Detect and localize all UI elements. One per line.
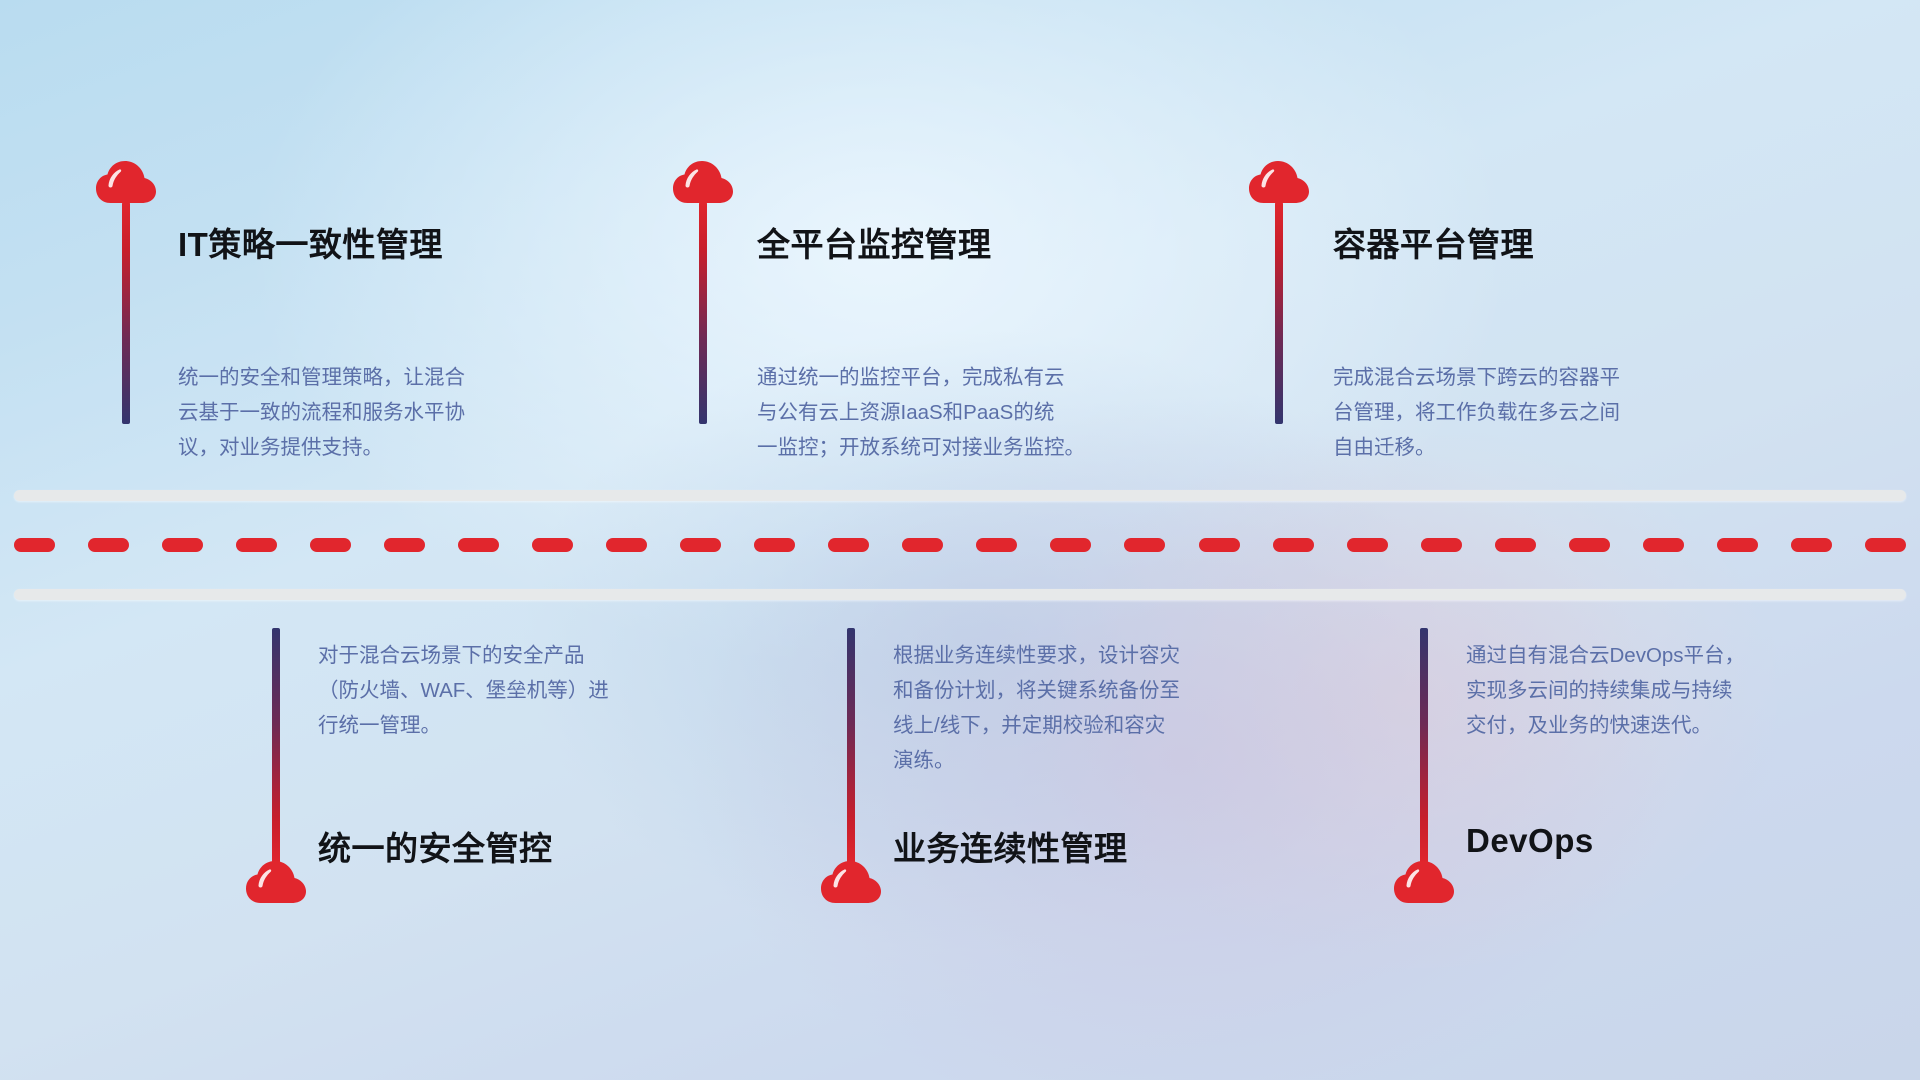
cloud-icon: [245, 860, 307, 904]
road-dash: [1791, 538, 1832, 552]
cloud-icon: [1393, 860, 1455, 904]
road-dash: [976, 538, 1017, 552]
cloud-pin-icon: [95, 160, 167, 204]
road-dashed-centerline: [14, 538, 1906, 552]
cloud-icon: [95, 160, 157, 204]
road-divider: [0, 490, 1920, 600]
cloud-pin-icon: [672, 160, 744, 204]
card-body: 通过自有混合云DevOps平台， 实现多云间的持续集成与持续 交付，及业务的快速…: [1466, 638, 1896, 743]
road-dash: [1495, 538, 1536, 552]
road-dash: [1050, 538, 1091, 552]
cloud-pin-icon: [1248, 160, 1320, 204]
road-dash: [1199, 538, 1240, 552]
road-dash: [1124, 538, 1165, 552]
pin-stem: [122, 202, 130, 424]
road-line-top: [14, 490, 1906, 501]
card-heading: 全平台监控管理: [757, 218, 992, 266]
cloud-icon: [672, 160, 734, 204]
road-dash: [902, 538, 943, 552]
road-dash: [606, 538, 647, 552]
pin-stem: [847, 628, 855, 866]
road-dash: [384, 538, 425, 552]
card-heading: 业务连续性管理: [893, 822, 1128, 870]
road-dash: [310, 538, 351, 552]
road-dash: [14, 538, 55, 552]
road-dash: [532, 538, 573, 552]
card-heading: 统一的安全管控: [318, 822, 553, 870]
card-heading: DevOps: [1466, 822, 1594, 860]
card-heading: 容器平台管理: [1333, 218, 1534, 266]
road-dash: [1717, 538, 1758, 552]
road-dash: [1643, 538, 1684, 552]
card-body: 根据业务连续性要求，设计容灾 和备份计划，将关键系统备份至 线上/线下，并定期校…: [893, 638, 1333, 778]
pin-stem: [1275, 202, 1283, 424]
road-dash: [754, 538, 795, 552]
infographic-canvas: IT策略一致性管理 统一的安全和管理策略，让混合 云基于一致的流程和服务水平协 …: [0, 0, 1920, 1080]
road-dash: [1421, 538, 1462, 552]
road-dash: [458, 538, 499, 552]
pin-stem: [272, 628, 280, 866]
road-dash: [680, 538, 721, 552]
road-dash: [162, 538, 203, 552]
road-line-bottom: [14, 589, 1906, 600]
cloud-icon: [820, 860, 882, 904]
card-body: 通过统一的监控平台，完成私有云 与公有云上资源IaaS和PaaS的统 一监控；开…: [757, 360, 1227, 465]
card-body: 统一的安全和管理策略，让混合 云基于一致的流程和服务水平协 议，对业务提供支持。: [178, 360, 608, 465]
cloud-icon: [1248, 160, 1310, 204]
road-dash: [828, 538, 869, 552]
card-heading: IT策略一致性管理: [178, 218, 443, 266]
road-dash: [88, 538, 129, 552]
pin-stem: [1420, 628, 1428, 866]
road-dash: [1865, 538, 1906, 552]
road-dash: [1347, 538, 1388, 552]
pin-stem: [699, 202, 707, 424]
road-dash: [1273, 538, 1314, 552]
road-dash: [1569, 538, 1610, 552]
road-dash: [236, 538, 277, 552]
card-body: 完成混合云场景下跨云的容器平 台管理，将工作负载在多云之间 自由迁移。: [1333, 360, 1783, 465]
card-body: 对于混合云场景下的安全产品 （防火墙、WAF、堡垒机等）进 行统一管理。: [318, 638, 748, 743]
